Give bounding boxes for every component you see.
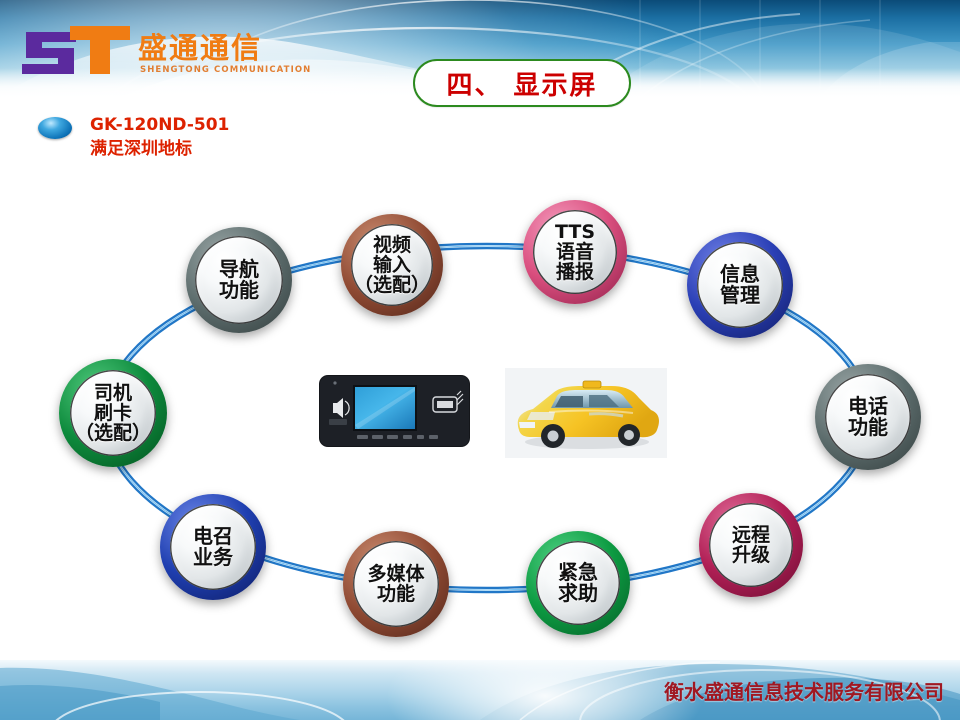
node-multimedia[interactable]: 多媒体功能	[343, 531, 449, 637]
node-tts-voice-face: TTS语音播报	[533, 210, 617, 294]
node-video-input-face: 视频输入（选配）	[351, 224, 433, 306]
node-multimedia-face: 多媒体功能	[353, 541, 439, 627]
node-driver-card-face: 司机刷卡（选配）	[70, 370, 156, 456]
page-title: 四、 显示屏	[446, 65, 597, 102]
node-driver-card[interactable]: 司机刷卡（选配）	[59, 359, 167, 467]
node-phone-func-face: 电话功能	[825, 374, 911, 460]
logo-brand-cn: 盛通通信	[138, 31, 262, 65]
footer-glow	[380, 660, 710, 720]
node-remote-upd-face: 远程升级	[709, 503, 793, 587]
node-video-input-label: 视频输入（选配）	[352, 235, 432, 295]
node-video-input[interactable]: 视频输入（选配）	[341, 214, 443, 316]
logo-t-mark	[70, 26, 130, 74]
node-e-hailing-label: 电召业务	[191, 526, 235, 568]
model-bullet-row: GK-120ND-501 满足深圳地标	[38, 113, 398, 167]
node-phone-func-label: 电话功能	[846, 396, 890, 438]
logo-graphic: 盛通通信 SHENGTONG COMMUNICATION	[14, 16, 314, 80]
node-navigation-label: 导航功能	[217, 259, 261, 301]
logo-s-mark	[22, 32, 76, 74]
node-info-mgmt[interactable]: 信息管理	[687, 232, 793, 338]
node-info-mgmt-label: 信息管理	[718, 264, 762, 306]
node-emergency-face: 紧急求助	[536, 541, 620, 625]
node-info-mgmt-face: 信息管理	[697, 242, 783, 328]
node-emergency-label: 紧急求助	[556, 562, 600, 604]
node-e-hailing-face: 电召业务	[170, 504, 256, 590]
model-number: GK-120ND-501	[90, 113, 229, 137]
node-tts-voice-label: TTS语音播报	[553, 222, 597, 282]
node-driver-card-label: 司机刷卡（选配）	[73, 383, 153, 443]
footer-band: 衡水盛通信息技术服务有限公司	[0, 660, 960, 720]
taxi-car-graphic	[505, 368, 667, 458]
node-e-hailing[interactable]: 电召业务	[160, 494, 266, 600]
logo-brand-en: SHENGTONG COMMUNICATION	[140, 65, 311, 75]
slide-canvas: 盛通通信 SHENGTONG COMMUNICATION 四、 显示屏 GK-1…	[0, 0, 960, 720]
node-remote-upd-label: 远程升级	[730, 525, 772, 565]
node-phone-func[interactable]: 电话功能	[815, 364, 921, 470]
footer-company-name: 衡水盛通信息技术服务有限公司	[664, 676, 944, 705]
node-multimedia-label: 多媒体功能	[365, 564, 426, 604]
model-bullet-text: GK-120ND-501 满足深圳地标	[90, 113, 229, 161]
bullet-dot-icon	[38, 117, 72, 139]
feature-ring-diagram: 导航功能 视频输入（选配） TTS语音播报 信息管理 司机刷卡（选配）	[0, 170, 960, 660]
company-logo: 盛通通信 SHENGTONG COMMUNICATION	[14, 16, 314, 80]
node-navigation-face: 导航功能	[195, 236, 283, 324]
node-navigation[interactable]: 导航功能	[186, 227, 292, 333]
model-standard: 满足深圳地标	[90, 137, 229, 161]
node-emergency[interactable]: 紧急求助	[526, 531, 630, 635]
node-tts-voice[interactable]: TTS语音播报	[523, 200, 627, 304]
section-title-box: 四、 显示屏	[413, 59, 631, 107]
display-device-image	[317, 369, 472, 455]
node-remote-upd[interactable]: 远程升级	[699, 493, 803, 597]
display-device-graphic	[317, 369, 472, 455]
taxi-car-image	[505, 368, 667, 458]
